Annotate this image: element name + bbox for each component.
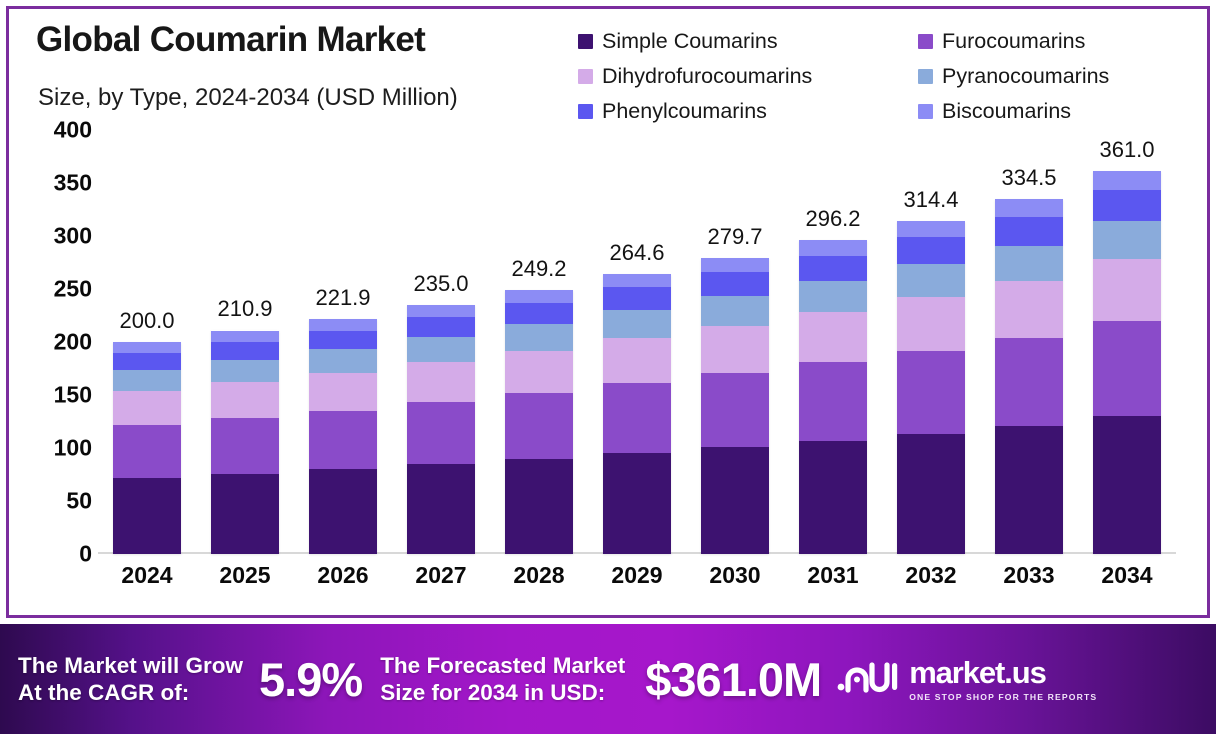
y-axis-tick: 100 [54,435,92,462]
bar-segment-pyranocoumarins[interactable] [701,296,769,326]
bar-segment-simple-coumarins[interactable] [995,426,1063,554]
bar-stack[interactable] [995,199,1063,554]
y-axis-tick: 250 [54,276,92,303]
summary-banner: The Market will Grow At the CAGR of: 5.9… [0,624,1216,734]
bar-segment-simple-coumarins[interactable] [799,441,867,554]
bar-segment-furocoumarins[interactable] [1093,321,1161,417]
bar-segment-phenylcoumarins[interactable] [113,353,181,370]
legend-item-biscoumarins[interactable]: Biscoumarins [918,101,1198,123]
bar-stack[interactable] [309,319,377,554]
bar-total-label: 314.4 [903,187,958,213]
bar-segment-simple-coumarins[interactable] [211,474,279,554]
bar-segment-phenylcoumarins[interactable] [1093,190,1161,221]
bar-segment-furocoumarins[interactable] [113,425,181,478]
bar-segment-furocoumarins[interactable] [407,402,475,464]
bar-segment-furocoumarins[interactable] [995,338,1063,427]
legend-item-simple-coumarins[interactable]: Simple Coumarins [578,31,918,53]
bar-stack[interactable] [1093,171,1161,554]
bar-segment-phenylcoumarins[interactable] [211,342,279,360]
bar-stack[interactable] [799,240,867,554]
bar-segment-furocoumarins[interactable] [799,362,867,441]
bar-group[interactable]: 235.0 [392,130,490,554]
bar-segment-simple-coumarins[interactable] [113,478,181,554]
bar-segment-phenylcoumarins[interactable] [309,331,377,350]
bar-group[interactable]: 200.0 [98,130,196,554]
x-axis-labels: 2024202520262027202820292030203120322033… [98,562,1176,589]
bar-segment-furocoumarins[interactable] [603,383,671,453]
bar-segment-pyranocoumarins[interactable] [995,246,1063,282]
bar-segment-dihydrofurocoumarins[interactable] [113,391,181,425]
page-subtitle: Size, by Type, 2024-2034 (USD Million) [38,84,458,112]
bar-total-label: 200.0 [119,308,174,334]
bar-segment-dihydrofurocoumarins[interactable] [211,382,279,418]
market-us-logo: market.us ONE STOP SHOP FOR THE REPORTS [837,657,1097,702]
x-axis-tick: 2031 [784,562,882,589]
bar-segment-simple-coumarins[interactable] [505,459,573,554]
bar-segment-pyranocoumarins[interactable] [113,370,181,391]
bar-group[interactable]: 314.4 [882,130,980,554]
x-axis-tick: 2028 [490,562,588,589]
bar-segment-phenylcoumarins[interactable] [603,287,671,309]
bar-stack[interactable] [211,330,279,554]
y-axis-labels: 050100150200250300350400 [22,130,92,554]
forecast-caption: The Forecasted Market Size for 2034 in U… [380,652,625,706]
bar-segment-furocoumarins[interactable] [309,411,377,470]
y-axis-tick: 400 [54,117,92,144]
y-axis-tick: 300 [54,223,92,250]
bar-segment-biscoumarins[interactable] [113,342,181,353]
bar-segment-dihydrofurocoumarins[interactable] [995,281,1063,338]
bar-segment-dihydrofurocoumarins[interactable] [407,362,475,402]
bar-total-label: 279.7 [707,224,762,250]
bar-stack[interactable] [701,258,769,554]
x-axis-tick: 2030 [686,562,784,589]
bar-stack[interactable] [407,305,475,554]
bar-segment-pyranocoumarins[interactable] [505,324,573,350]
bar-segment-simple-coumarins[interactable] [701,447,769,554]
bar-segment-biscoumarins[interactable] [603,274,671,288]
forecast-caption-line1: The Forecasted Market [380,652,625,679]
y-axis-tick: 200 [54,329,92,356]
bar-segment-simple-coumarins[interactable] [603,453,671,554]
bar-segment-biscoumarins[interactable] [309,319,377,331]
bar-segment-pyranocoumarins[interactable] [897,264,965,297]
forecast-caption-line2: Size for 2034 in USD: [380,679,625,706]
bar-segment-dihydrofurocoumarins[interactable] [897,297,965,350]
bar-total-label: 249.2 [511,256,566,282]
bar-segment-pyranocoumarins[interactable] [799,281,867,312]
bar-group[interactable]: 296.2 [784,130,882,554]
x-axis-tick: 2025 [196,562,294,589]
bar-total-label: 296.2 [805,206,860,232]
market-us-wordmark: market.us ONE STOP SHOP FOR THE REPORTS [909,657,1097,702]
bar-total-label: 334.5 [1001,165,1056,191]
bar-segment-pyranocoumarins[interactable] [407,337,475,362]
x-axis-tick: 2033 [980,562,1078,589]
legend-item-dihydrofurocoumarins[interactable]: Dihydrofurocoumarins [578,66,918,88]
bar-group[interactable]: 361.0 [1078,130,1176,554]
bar-segment-dihydrofurocoumarins[interactable] [799,312,867,362]
legend-label: Furocoumarins [942,31,1085,53]
bar-segment-simple-coumarins[interactable] [1093,416,1161,554]
cagr-caption: The Market will Grow At the CAGR of: [18,652,243,706]
bar-group[interactable]: 221.9 [294,130,392,554]
bar-group[interactable]: 279.7 [686,130,784,554]
logo-word: market.us [909,657,1097,688]
bar-segment-pyranocoumarins[interactable] [1093,221,1161,259]
bar-stack[interactable] [113,342,181,554]
forecast-value: $361.0M [645,652,821,707]
x-axis-tick: 2024 [98,562,196,589]
cagr-caption-line2: At the CAGR of: [18,679,243,706]
bar-segment-dihydrofurocoumarins[interactable] [701,326,769,373]
bar-segment-phenylcoumarins[interactable] [799,256,867,281]
cagr-caption-line1: The Market will Grow [18,652,243,679]
bar-segment-simple-coumarins[interactable] [407,464,475,554]
bar-total-label: 264.6 [609,240,664,266]
bar-segment-pyranocoumarins[interactable] [309,349,377,373]
legend-swatch-icon [918,34,933,49]
bar-group[interactable]: 264.6 [588,130,686,554]
legend-label: Dihydrofurocoumarins [602,66,812,88]
bar-segment-dihydrofurocoumarins[interactable] [309,373,377,411]
bar-segment-furocoumarins[interactable] [897,351,965,434]
legend-label: Pyranocoumarins [942,66,1109,88]
bar-stack[interactable] [603,274,671,554]
y-axis-tick: 0 [79,541,92,568]
bar-segment-phenylcoumarins[interactable] [995,217,1063,245]
legend-swatch-icon [918,104,933,119]
bar-segment-biscoumarins[interactable] [211,331,279,342]
x-axis-tick: 2029 [588,562,686,589]
legend-item-phenylcoumarins[interactable]: Phenylcoumarins [578,101,918,123]
legend-label: Phenylcoumarins [602,101,767,123]
legend-item-furocoumarins[interactable]: Furocoumarins [918,31,1198,53]
bar-segment-phenylcoumarins[interactable] [897,237,965,264]
bar-segment-pyranocoumarins[interactable] [603,310,671,338]
chart-legend: Simple CoumarinsFurocoumarinsDihydrofuro… [578,24,1198,129]
cagr-value: 5.9% [259,652,362,707]
bar-segment-furocoumarins[interactable] [701,373,769,447]
legend-item-pyranocoumarins[interactable]: Pyranocoumarins [918,66,1198,88]
bar-segment-pyranocoumarins[interactable] [211,360,279,382]
market-us-mark-icon [837,657,899,702]
x-axis-tick: 2032 [882,562,980,589]
bar-group[interactable]: 210.9 [196,130,294,554]
legend-label: Biscoumarins [942,101,1071,123]
bar-series-container: 200.0210.9221.9235.0249.2264.6279.7296.2… [98,130,1176,554]
bar-group[interactable]: 249.2 [490,130,588,554]
bar-segment-furocoumarins[interactable] [211,418,279,474]
legend-swatch-icon [918,69,933,84]
x-axis-tick: 2034 [1078,562,1176,589]
bar-segment-simple-coumarins[interactable] [309,469,377,554]
x-axis-tick: 2027 [392,562,490,589]
legend-label: Simple Coumarins [602,31,778,53]
legend-swatch-icon [578,69,593,84]
logo-tagline: ONE STOP SHOP FOR THE REPORTS [909,693,1097,702]
bar-segment-biscoumarins[interactable] [897,221,965,238]
chart-infographic: Global Coumarin Market Size, by Type, 20… [0,0,1216,734]
bar-stack[interactable] [505,290,573,554]
x-axis-tick: 2026 [294,562,392,589]
bar-segment-simple-coumarins[interactable] [897,434,965,554]
bar-segment-biscoumarins[interactable] [701,258,769,273]
y-axis-tick: 150 [54,382,92,409]
bar-segment-dihydrofurocoumarins[interactable] [505,351,573,393]
legend-swatch-icon [578,34,593,49]
bar-segment-furocoumarins[interactable] [505,393,573,459]
legend-swatch-icon [578,104,593,119]
bar-total-label: 361.0 [1099,137,1154,163]
y-axis-tick: 350 [54,170,92,197]
bar-total-label: 210.9 [217,296,272,322]
bar-total-label: 221.9 [315,285,370,311]
bar-segment-dihydrofurocoumarins[interactable] [1093,259,1161,320]
page-title: Global Coumarin Market [36,20,425,60]
bar-segment-biscoumarins[interactable] [407,305,475,317]
bar-group[interactable]: 334.5 [980,130,1078,554]
bar-segment-phenylcoumarins[interactable] [505,303,573,324]
bar-segment-biscoumarins[interactable] [1093,171,1161,190]
bar-segment-biscoumarins[interactable] [505,290,573,303]
y-axis-tick: 50 [66,488,92,515]
bar-segment-phenylcoumarins[interactable] [701,272,769,296]
bar-segment-biscoumarins[interactable] [995,199,1063,217]
bar-segment-biscoumarins[interactable] [799,240,867,256]
bar-total-label: 235.0 [413,271,468,297]
bar-segment-phenylcoumarins[interactable] [407,317,475,337]
bar-segment-dihydrofurocoumarins[interactable] [603,338,671,383]
bar-stack[interactable] [897,221,965,554]
